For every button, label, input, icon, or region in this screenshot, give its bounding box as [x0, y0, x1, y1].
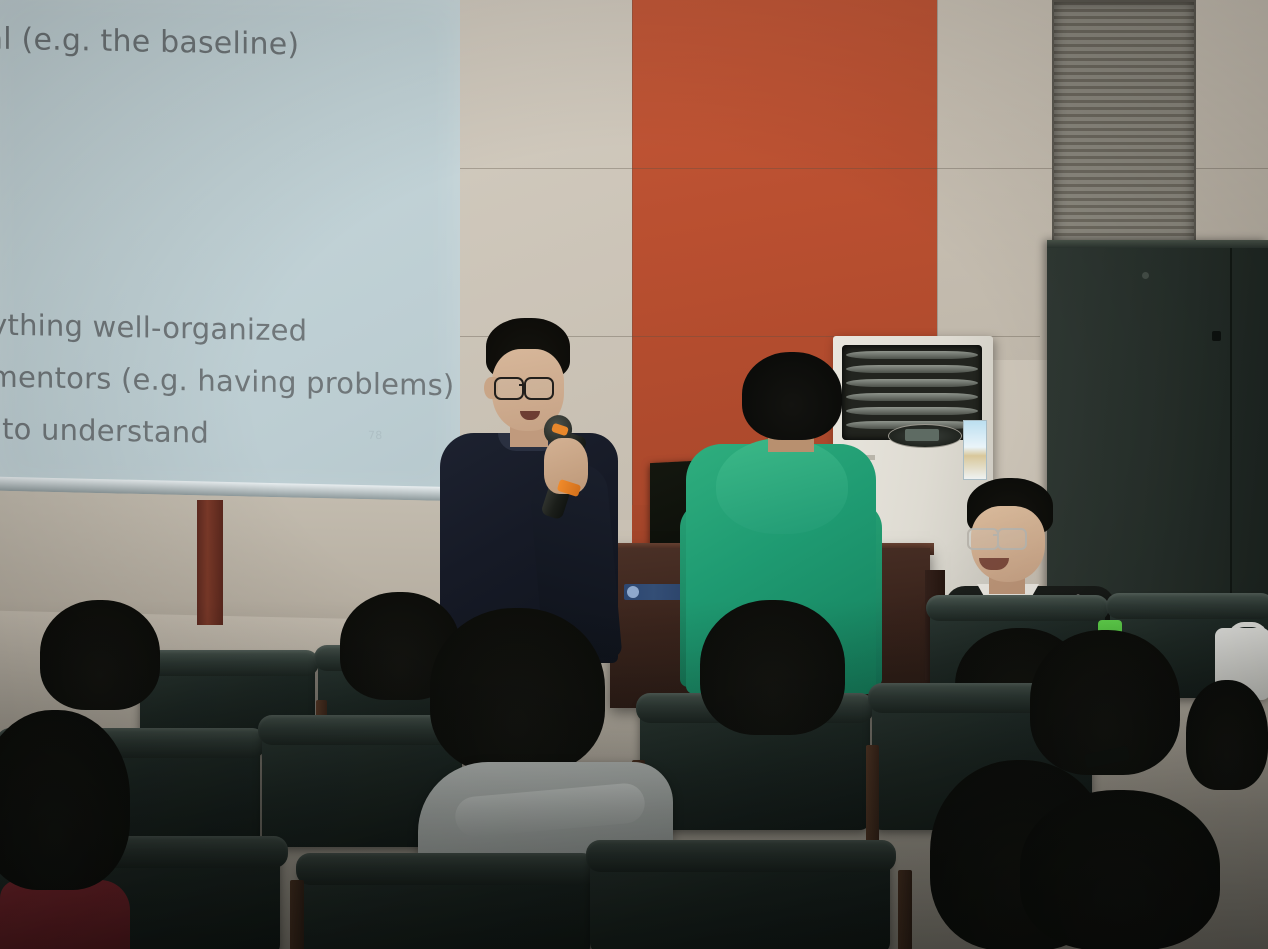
glasses-bridge: [519, 384, 526, 386]
audience-head: [700, 600, 845, 735]
glasses-icon: [494, 377, 524, 400]
slide-text-line-2: erything well-organized: [0, 307, 307, 348]
seat-headrest: [1106, 593, 1268, 619]
equipment-cabinet-top-edge: [1047, 240, 1268, 248]
glasses-lens-right: [997, 528, 1027, 550]
seat-leg: [290, 880, 304, 949]
seat-headrest: [926, 595, 1109, 621]
air-conditioner-display-screen: [905, 429, 939, 441]
audience-head: [1186, 680, 1268, 790]
hood: [716, 438, 848, 534]
glasses-lens-right: [524, 377, 554, 400]
equipment-cabinet-screw: [1142, 272, 1149, 279]
glasses-lens-left: [967, 528, 999, 550]
questioner-hair: [742, 352, 842, 440]
seat-headrest: [136, 650, 319, 676]
equipment-cabinet-door-seam: [1230, 248, 1232, 628]
audience-head: [1020, 790, 1220, 949]
photo-scene: cal (e.g. the baseline) erything well-or…: [0, 0, 1268, 949]
wall-seam-vertical-a: [632, 0, 633, 505]
slide-text-line-3: r mentors (e.g. having problems): [0, 359, 454, 402]
seat-headrest: [586, 840, 896, 872]
seat-leg: [898, 870, 912, 949]
slide-text-line-4: sy to understand: [0, 411, 209, 450]
plaque-emblem-icon: [627, 586, 639, 598]
projection-screen: cal (e.g. the baseline) erything well-or…: [0, 0, 460, 499]
audience-head: [40, 600, 160, 710]
screen-support-strip: [197, 500, 223, 625]
glasses-bridge: [993, 534, 999, 536]
audience-head: [0, 710, 130, 890]
seat-headrest: [296, 853, 596, 885]
slide-text-line-1: cal (e.g. the baseline): [0, 21, 299, 62]
wall-panel-beige-far-right: [1190, 0, 1268, 250]
slide-page-number: 78: [368, 429, 382, 442]
seat-leg: [866, 745, 879, 845]
red-garment: [0, 880, 130, 949]
wall-panel-beige-right: [937, 0, 1052, 360]
equipment-cabinet-lock[interactable]: [1212, 331, 1221, 341]
ceiling-vent-grille: [1052, 0, 1196, 254]
audience-head: [430, 608, 605, 773]
energy-efficiency-label: [963, 420, 987, 480]
